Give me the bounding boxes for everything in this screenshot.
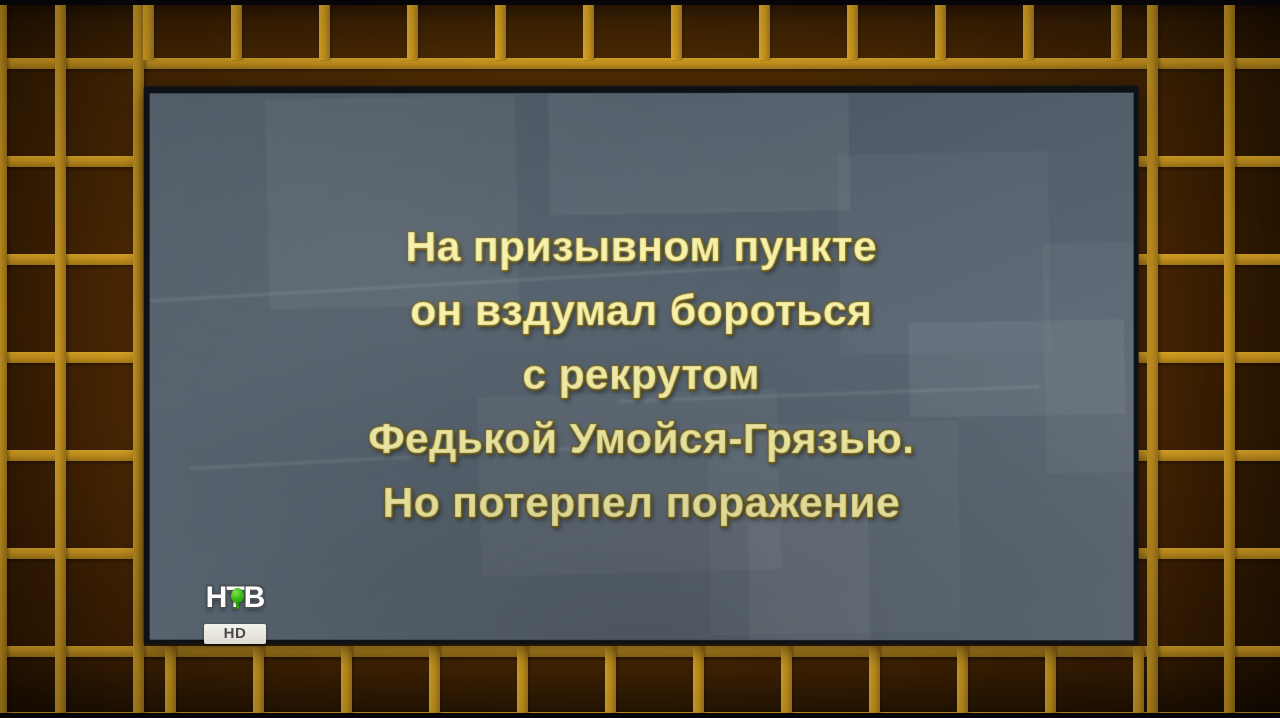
green-drop-icon — [231, 588, 244, 603]
frieze-bar — [1111, 5, 1122, 60]
caption-line: с рекрутом — [150, 343, 1134, 407]
caption-block: На призывном пункте он вздумал бороться … — [150, 215, 1134, 535]
frieze-bar — [165, 646, 176, 718]
frieze-bar — [781, 646, 792, 718]
wall-rail — [0, 646, 1280, 657]
frieze-bar — [693, 646, 704, 718]
frieze-bar — [1023, 5, 1034, 60]
caption-line: Но потерпел поражение — [150, 471, 1134, 535]
frieze-bar — [429, 646, 440, 718]
frieze-bar — [143, 5, 154, 60]
wall-stile — [1224, 0, 1235, 718]
frieze-bar — [341, 646, 352, 718]
frieze-bar — [495, 5, 506, 60]
wall-stile — [1147, 0, 1158, 718]
frieze-bar — [605, 646, 616, 718]
display-bezel: На призывном пункте он вздумал бороться … — [144, 86, 1139, 645]
frieze-bar — [671, 5, 682, 60]
frieze-bar — [1133, 646, 1144, 718]
wall-stile — [133, 0, 144, 718]
frieze-bar — [935, 5, 946, 60]
frieze-bar — [583, 5, 594, 60]
frieze-bar — [517, 646, 528, 718]
frieze-bar — [231, 5, 242, 60]
wall-rail — [0, 58, 1280, 69]
letterbox-bottom — [0, 713, 1280, 718]
frieze-bar — [253, 646, 264, 718]
ntv-wordmark: НТВ — [196, 574, 274, 622]
letterbox-top — [0, 0, 1280, 5]
frieze-bar — [957, 646, 968, 718]
background-shape — [548, 93, 851, 216]
caption-line: Федькой Умойся-Грязью. — [150, 407, 1134, 471]
caption-line: он вздумал бороться — [150, 279, 1134, 343]
channel-logo: НТВ HD — [196, 574, 274, 646]
frieze-bar — [869, 646, 880, 718]
wall-stile — [55, 0, 66, 718]
frieze-bar — [319, 5, 330, 60]
wall-stile — [0, 0, 7, 718]
display-screen: На призывном пункте он вздумал бороться … — [150, 93, 1134, 641]
frieze-bar — [1045, 646, 1056, 718]
frieze-bar — [847, 5, 858, 60]
frieze-bar — [407, 5, 418, 60]
caption-line: На призывном пункте — [150, 215, 1134, 279]
broadcast-frame: На призывном пункте он вздумал бороться … — [0, 0, 1280, 718]
frieze-bar — [759, 5, 770, 60]
hd-badge: HD — [204, 624, 266, 644]
